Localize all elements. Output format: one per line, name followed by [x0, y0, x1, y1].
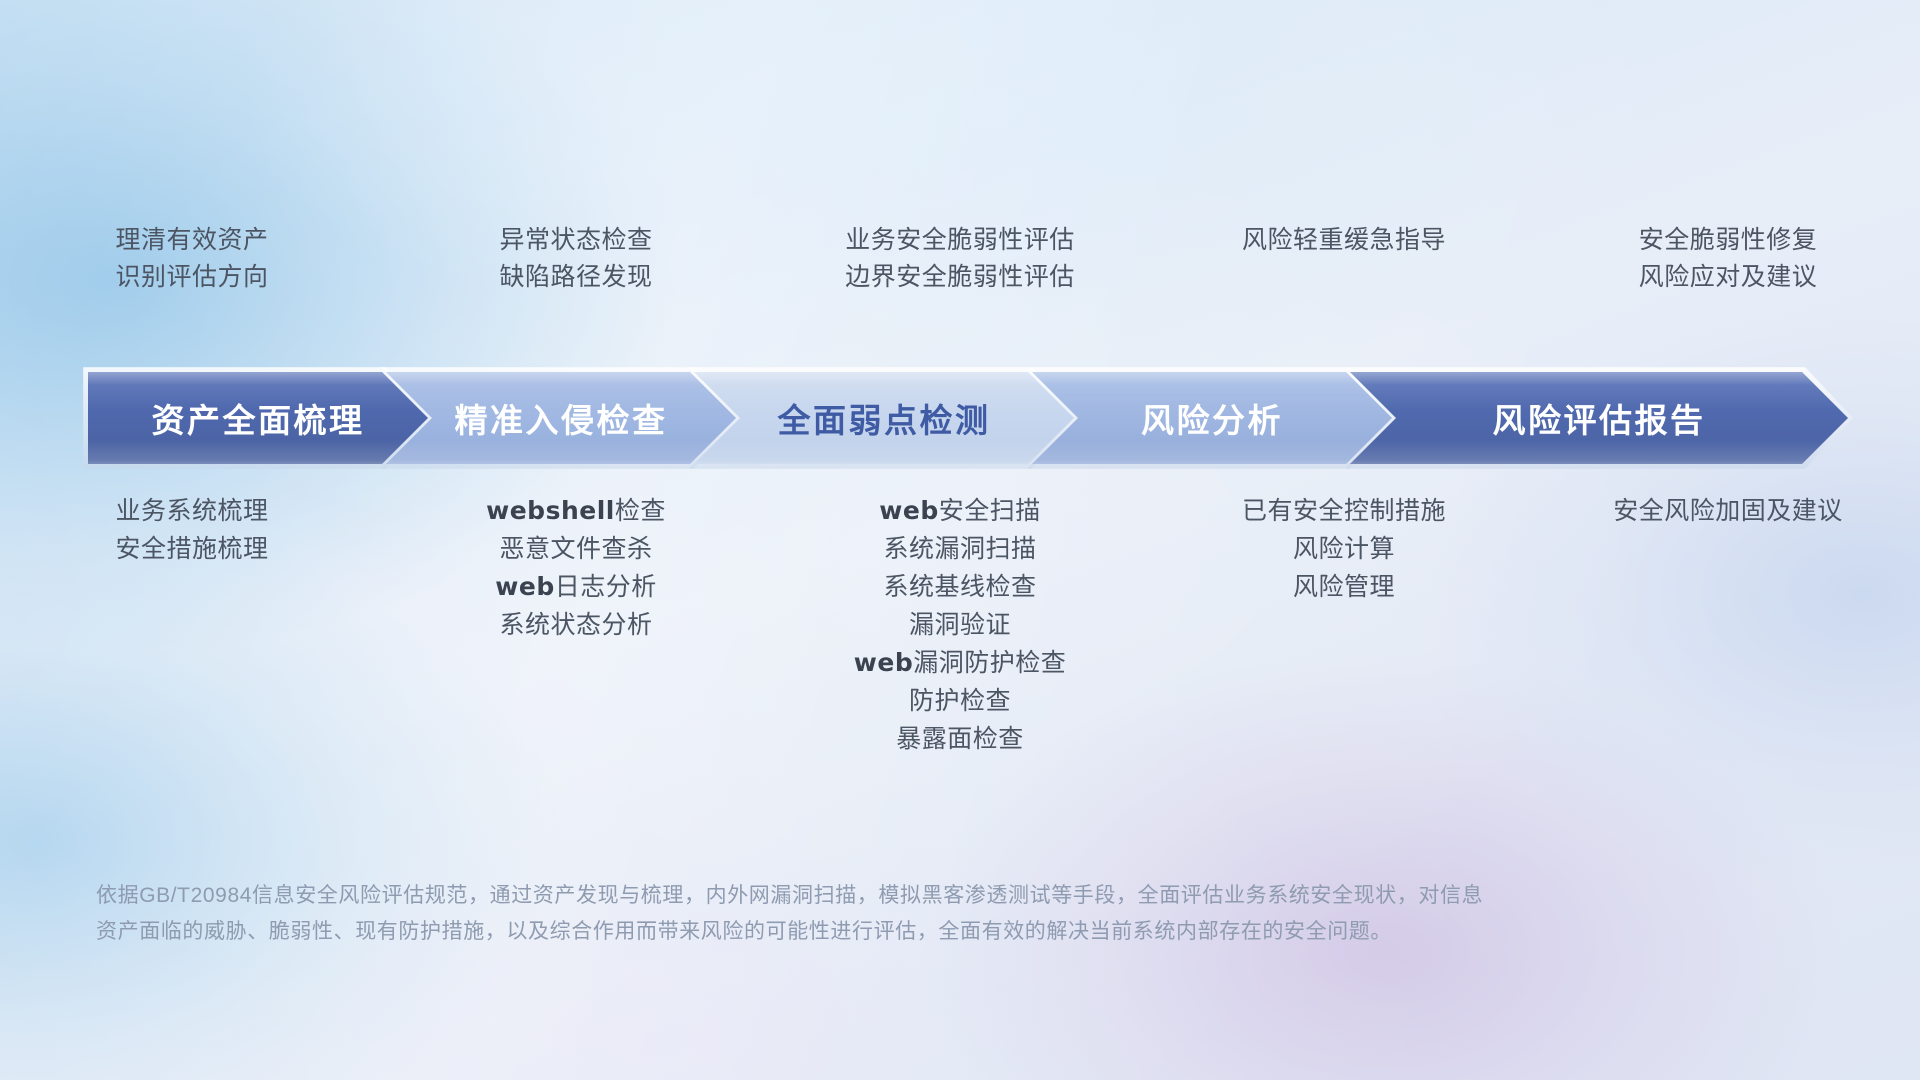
list-item-latin: web [854, 648, 913, 677]
list-item-text: 防护检查 [909, 687, 1011, 715]
list-item-text: 业务系统梳理 [115, 497, 268, 525]
list-item-text: 暴露面检查 [896, 725, 1024, 753]
process-chevron-band: 资产全面梳理 精准入侵检查 全面弱点检测 风险分析 风险评估报告 [88, 372, 1848, 464]
list-item: web漏洞防护检查 [854, 650, 1066, 676]
top-caption: 异常状态检查 [499, 228, 652, 253]
list-item: 系统状态分析 [499, 612, 652, 638]
list-item: 防护检查 [909, 688, 1011, 714]
list-item-latin: web [495, 572, 554, 601]
top-captions-intrusion-check: 异常状态检查 缺陷路径发现 [384, 228, 768, 338]
footer-line-1: 依据GB/T20984信息安全风险评估规范，通过资产发现与梳理，内外网漏洞扫描，… [96, 878, 1616, 914]
top-caption: 缺陷路径发现 [499, 265, 652, 290]
list-item: 暴露面检查 [896, 726, 1024, 752]
list-item: 安全风险加固及建议 [1613, 498, 1843, 524]
bottom-details-row: 业务系统梳理 安全措施梳理 webshell检查 恶意文件查杀 web日志分析 … [0, 498, 1920, 838]
list-item: webshell检查 [486, 498, 666, 524]
list-item: 系统漏洞扫描 [883, 536, 1036, 562]
chevron-stage-asset-inventory[interactable]: 资产全面梳理 [88, 372, 428, 464]
list-item-text: 安全风险加固及建议 [1613, 497, 1843, 525]
chevron-stage-weakness-detection[interactable]: 全面弱点检测 [694, 372, 1074, 464]
top-captions-risk-analysis: 风险轻重缓急指导 [1152, 228, 1536, 338]
chevron-label: 资产全面梳理 [152, 394, 365, 442]
list-item-text: 日志分析 [555, 573, 657, 601]
chevron-label: 全面弱点检测 [778, 394, 991, 442]
list-item: 已有安全控制措施 [1242, 498, 1446, 524]
list-item: 风险计算 [1293, 536, 1395, 562]
list-item-text: 安全扫描 [939, 497, 1041, 525]
list-item-text: 系统状态分析 [499, 611, 652, 639]
list-item: 恶意文件查杀 [499, 536, 652, 562]
top-captions-weakness-detection: 业务安全脆弱性评估 边界安全脆弱性评估 [768, 228, 1152, 338]
top-captions-asset-inventory: 理清有效资产 识别评估方向 [0, 228, 384, 338]
chevron-stage-assessment-report[interactable]: 风险评估报告 [1350, 372, 1848, 464]
footer-line-2: 资产面临的威胁、脆弱性、现有防护措施，以及综合作用而带来风险的可能性进行评估，全… [96, 914, 1616, 950]
list-item-text: 恶意文件查杀 [499, 535, 652, 563]
detail-list-weakness-detection: web安全扫描 系统漏洞扫描 系统基线检查 漏洞验证 web漏洞防护检查 防护检… [768, 498, 1152, 838]
detail-list-intrusion-check: webshell检查 恶意文件查杀 web日志分析 系统状态分析 [384, 498, 768, 838]
chevron-label: 精准入侵检查 [455, 394, 668, 442]
diagram-canvas: 理清有效资产 识别评估方向 异常状态检查 缺陷路径发现 业务安全脆弱性评估 边界… [0, 0, 1920, 1080]
top-caption: 安全脆弱性修复 [1639, 228, 1818, 253]
chevron-stage-intrusion-check[interactable]: 精准入侵检查 [386, 372, 736, 464]
list-item-latin: web [879, 496, 938, 525]
top-caption: 风险应对及建议 [1639, 265, 1818, 290]
list-item: 风险管理 [1293, 574, 1395, 600]
list-item: web安全扫描 [879, 498, 1040, 524]
list-item-text: 风险管理 [1293, 573, 1395, 601]
detail-list-asset-inventory: 业务系统梳理 安全措施梳理 [0, 498, 384, 838]
top-captions-row: 理清有效资产 识别评估方向 异常状态检查 缺陷路径发现 业务安全脆弱性评估 边界… [0, 228, 1920, 338]
chevron-stage-risk-analysis[interactable]: 风险分析 [1032, 372, 1392, 464]
list-item-text: 系统基线检查 [883, 573, 1036, 601]
list-item-text: 检查 [615, 497, 666, 525]
list-item-text: 安全措施梳理 [115, 535, 268, 563]
list-item: 业务系统梳理 [115, 498, 268, 524]
list-item-text: 系统漏洞扫描 [883, 535, 1036, 563]
detail-list-assessment-report: 安全风险加固及建议 [1536, 498, 1920, 838]
list-item-latin: webshell [486, 496, 615, 525]
chevron-label: 风险分析 [1141, 394, 1283, 442]
chevron-label: 风险评估报告 [1493, 394, 1706, 442]
top-caption: 风险轻重缓急指导 [1242, 228, 1446, 253]
footer-description: 依据GB/T20984信息安全风险评估规范，通过资产发现与梳理，内外网漏洞扫描，… [96, 878, 1616, 950]
list-item-text: 漏洞验证 [909, 611, 1011, 639]
list-item: 漏洞验证 [909, 612, 1011, 638]
top-caption: 识别评估方向 [115, 265, 268, 290]
top-caption: 边界安全脆弱性评估 [845, 265, 1075, 290]
top-caption: 理清有效资产 [115, 228, 268, 253]
list-item-text: 风险计算 [1293, 535, 1395, 563]
list-item: 系统基线检查 [883, 574, 1036, 600]
list-item: web日志分析 [495, 574, 656, 600]
detail-list-risk-analysis: 已有安全控制措施 风险计算 风险管理 [1152, 498, 1536, 838]
top-caption: 业务安全脆弱性评估 [845, 228, 1075, 253]
list-item-text: 漏洞防护检查 [913, 649, 1066, 677]
list-item: 安全措施梳理 [115, 536, 268, 562]
top-captions-assessment-report: 安全脆弱性修复 风险应对及建议 [1536, 228, 1920, 338]
list-item-text: 已有安全控制措施 [1242, 497, 1446, 525]
